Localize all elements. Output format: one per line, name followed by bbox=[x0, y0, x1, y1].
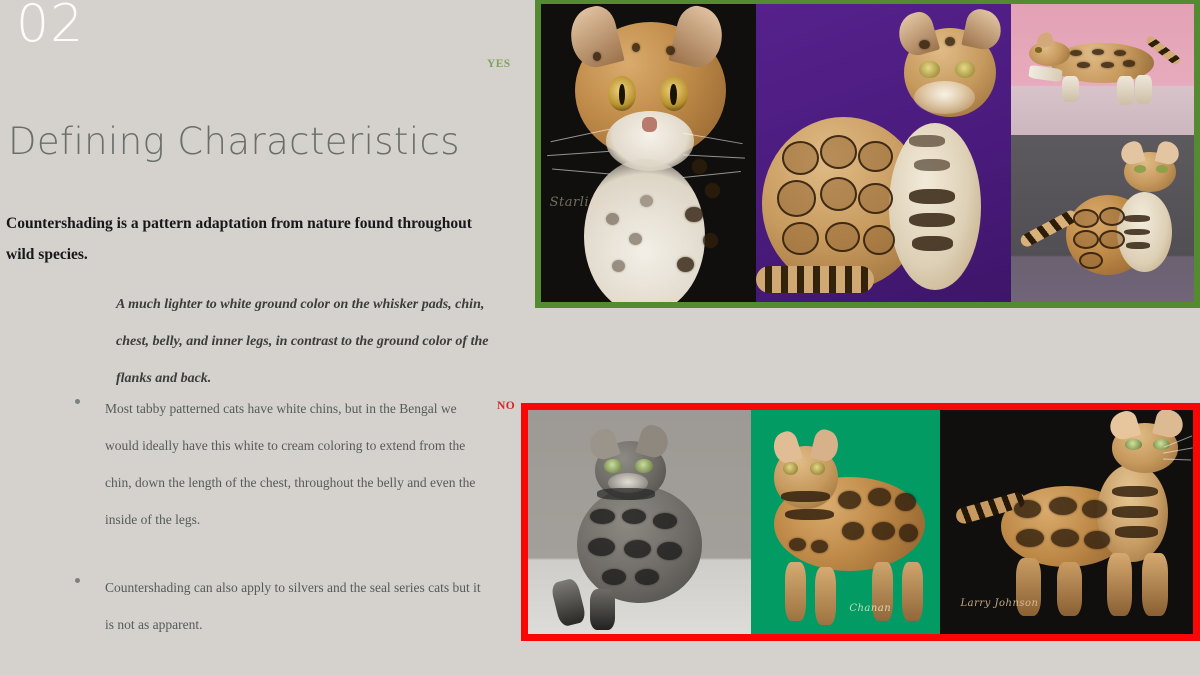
photo-bengal-grey bbox=[1011, 135, 1194, 302]
photo-watermark: Chanan bbox=[849, 603, 891, 614]
list-item: Countershading can also apply to silvers… bbox=[70, 569, 490, 643]
photo-silver-bengal-concrete bbox=[528, 410, 751, 634]
bullet-point-icon bbox=[75, 578, 80, 583]
photo-cell: Starlight bbox=[541, 4, 756, 302]
list-item-text: Most tabby patterned cats have white chi… bbox=[105, 401, 475, 527]
highlight-quote: A much lighter to white ground color on … bbox=[116, 286, 516, 397]
presentation-slide: 02 Defining Characteristics Countershadi… bbox=[0, 0, 1200, 675]
section-number: 02 bbox=[16, 0, 84, 50]
status-badge-yes: YES bbox=[487, 58, 511, 70]
photo-cell bbox=[528, 410, 751, 634]
photo-bengal-pink bbox=[1011, 4, 1194, 135]
photo-cell-stack bbox=[1011, 4, 1194, 302]
bullet-list: Most tabby patterned cats have white chi… bbox=[70, 390, 490, 673]
photo-cell: Larry Johnson bbox=[940, 410, 1193, 634]
photo-watermark: Starlight bbox=[550, 195, 613, 210]
list-item-text: Countershading can also apply to silvers… bbox=[105, 580, 481, 632]
photo-cell: Chanan bbox=[751, 410, 941, 634]
page-title: Defining Characteristics bbox=[8, 123, 460, 160]
photo-bengal-black: Larry Johnson bbox=[940, 410, 1193, 634]
photo-bengal-kitten-black: Starlight bbox=[541, 4, 756, 302]
photo-watermark: Larry Johnson bbox=[960, 598, 1038, 609]
bullet-point-icon bbox=[75, 399, 80, 404]
photo-grid-yes: Starlight bbox=[535, 0, 1200, 308]
lead-paragraph: Countershading is a pattern adaptation f… bbox=[6, 208, 486, 270]
photo-bengal-purple bbox=[756, 4, 1011, 302]
photo-cell bbox=[756, 4, 1011, 302]
photo-grid-no: Chanan bbox=[521, 403, 1200, 641]
list-item: Most tabby patterned cats have white chi… bbox=[70, 390, 490, 539]
photo-bengal-green: Chanan bbox=[751, 410, 941, 634]
status-badge-no: NO bbox=[497, 400, 515, 412]
